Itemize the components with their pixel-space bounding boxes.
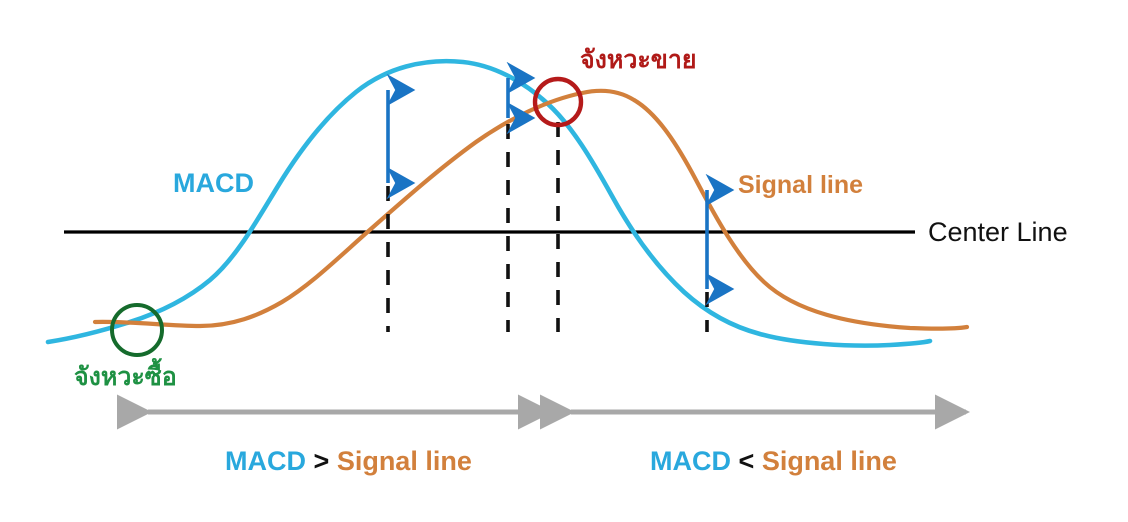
- macd-label: MACD: [173, 170, 254, 197]
- buy-signal-circle: [112, 305, 162, 355]
- sell-signal-label: จังหวะขาย: [580, 48, 697, 73]
- sell-signal-circle: [535, 79, 581, 125]
- comparison-right-operator: <: [739, 446, 755, 476]
- signal-line-label: Signal line: [738, 173, 863, 198]
- dashed-guides: [388, 122, 707, 332]
- macd-chart-canvas: [0, 0, 1128, 522]
- comparison-left-macd: MACD: [225, 446, 306, 476]
- comparison-right-macd: MACD: [650, 446, 731, 476]
- comparison-left-signal: Signal line: [337, 446, 472, 476]
- comparison-right-signal: Signal line: [762, 446, 897, 476]
- macd-greater-than-signal-label: MACD > Signal line: [225, 448, 472, 475]
- macd-less-than-signal-label: MACD < Signal line: [650, 448, 897, 475]
- gap-measure-arrows: [388, 78, 707, 289]
- signal-line: [95, 91, 967, 329]
- center-line-label: Center Line: [928, 219, 1068, 246]
- macd-diagram: MACD Signal line Center Line จังหวะซื้อ …: [0, 0, 1128, 522]
- comparison-left-operator: >: [314, 446, 330, 476]
- buy-signal-label: จังหวะซื้อ: [74, 365, 177, 390]
